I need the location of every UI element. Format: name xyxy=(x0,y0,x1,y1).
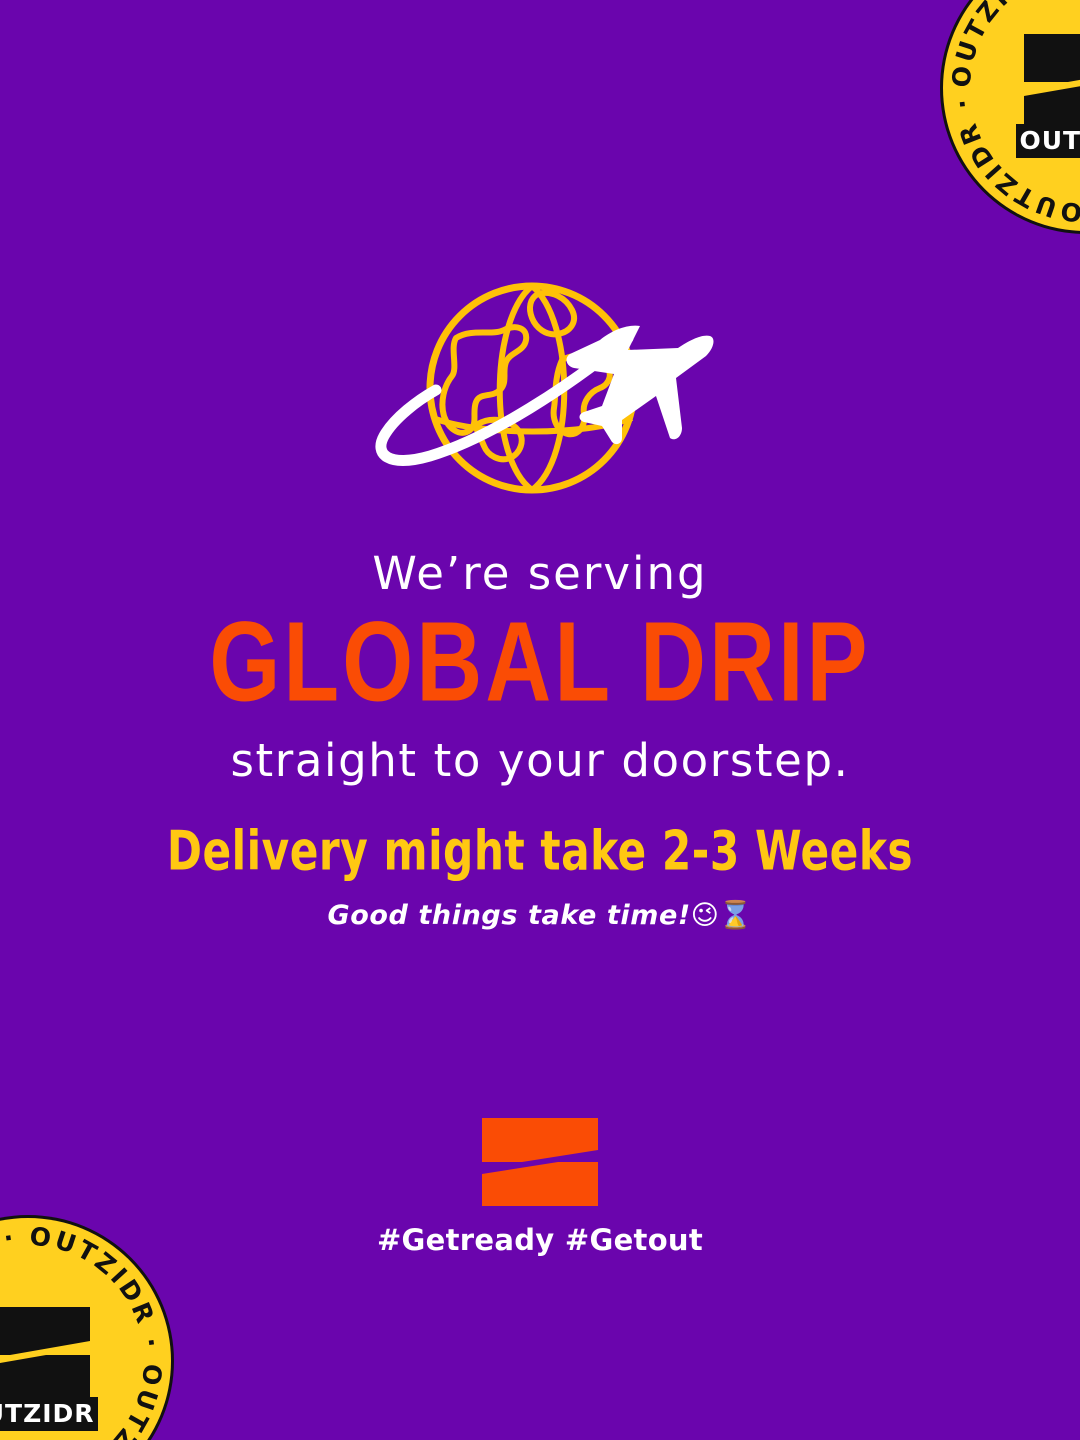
delivery-subtext-line: Good things take time!😉⌛ xyxy=(0,899,1080,931)
wink-hourglass-emoji: 😉⌛ xyxy=(691,900,753,931)
delivery-subtext: Good things take time! xyxy=(327,900,690,931)
headline-line-3: straight to your doorstep. xyxy=(0,737,1080,784)
delivery-notice-block: Delivery might take 2-3 Weeks Good thing… xyxy=(0,820,1080,931)
sticker-center-wordmark: OUTZIDR xyxy=(1019,126,1080,155)
outzidr-seal-bottom-left: OUTZIDR · OUTZIDR · OUTZIDR · OUTZIDR · … xyxy=(0,1211,178,1440)
outzidr-seal-top-right: OUTZIDR · OUTZIDR · OUTZIDR · OUTZIDR · … xyxy=(936,0,1080,238)
outzidr-z-logo-icon xyxy=(478,1118,602,1206)
headline-block: We’re serving GLOBAL DRIP straight to yo… xyxy=(0,550,1080,785)
globe-airplane-icon xyxy=(360,278,720,510)
delivery-headline: Delivery might take 2-3 Weeks xyxy=(0,820,1080,883)
headline-line-1: We’re serving xyxy=(0,550,1080,597)
headline-emphasis: GLOBAL DRIP xyxy=(0,605,1080,719)
promo-poster: We’re serving GLOBAL DRIP straight to yo… xyxy=(0,0,1080,1440)
sticker-center-wordmark: OUTZIDR xyxy=(0,1399,95,1428)
